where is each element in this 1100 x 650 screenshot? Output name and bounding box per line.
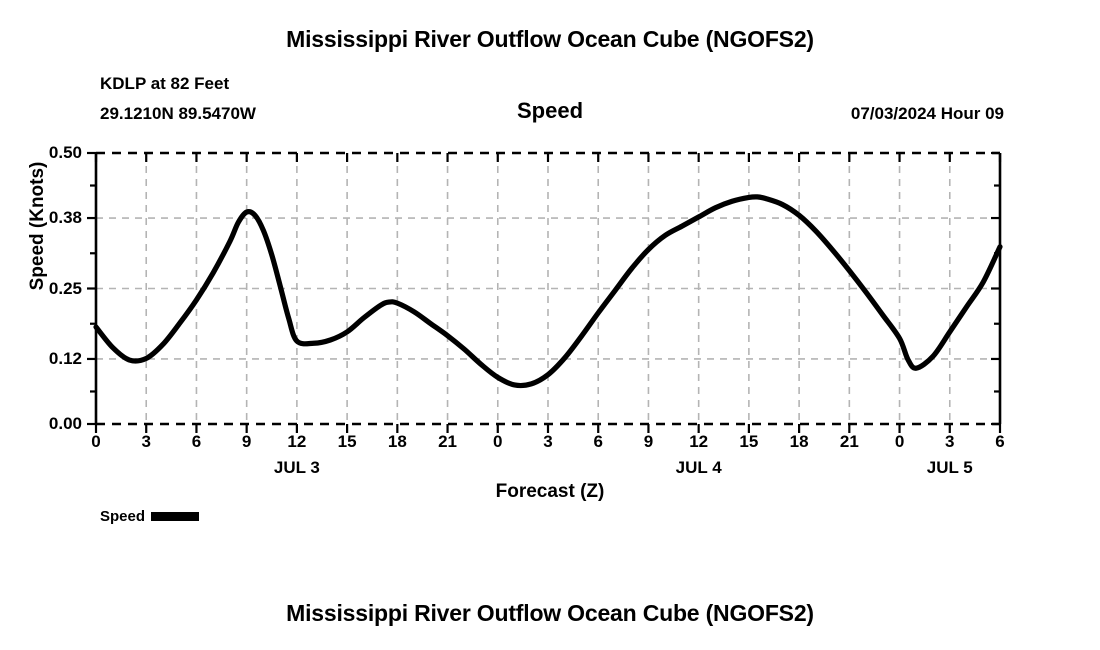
x-tick-label: 6: [578, 432, 618, 452]
y-tick-label: 0.50: [22, 144, 82, 161]
x-tick-label: 12: [277, 432, 317, 452]
x-axis-title: Forecast (Z): [0, 481, 1100, 503]
chart-page: Mississippi River Outflow Ocean Cube (NG…: [0, 0, 1100, 650]
x-axis-day-label: JUL 5: [890, 458, 1010, 478]
series-line-speed: [96, 197, 1000, 386]
x-tick-label: 0: [880, 432, 920, 452]
x-tick-label: 9: [628, 432, 668, 452]
plot-area: Speed (Knots) 0.000.120.250.380.50 03691…: [0, 0, 1100, 650]
x-tick-label: 15: [729, 432, 769, 452]
x-tick-label: 18: [377, 432, 417, 452]
x-axis-day-label: JUL 4: [639, 458, 759, 478]
x-tick-label: 18: [779, 432, 819, 452]
x-tick-label: 0: [76, 432, 116, 452]
y-tick-label: 0.12: [22, 350, 82, 367]
y-tick-label: 0.25: [22, 280, 82, 297]
x-tick-label: 9: [227, 432, 267, 452]
x-tick-label: 15: [327, 432, 367, 452]
chart-legend: Speed: [100, 508, 199, 525]
x-axis-day-label: JUL 3: [237, 458, 357, 478]
x-tick-label: 21: [428, 432, 468, 452]
x-tick-label: 21: [829, 432, 869, 452]
y-tick-label: 0.38: [22, 209, 82, 226]
x-tick-label: 3: [528, 432, 568, 452]
footer-title: Mississippi River Outflow Ocean Cube (NG…: [0, 600, 1100, 627]
x-tick-label: 6: [980, 432, 1020, 452]
x-tick-label: 12: [679, 432, 719, 452]
x-tick-label: 6: [176, 432, 216, 452]
x-tick-label: 3: [126, 432, 166, 452]
speed-time-series-chart: [0, 0, 1100, 650]
x-tick-label: 0: [478, 432, 518, 452]
y-tick-label: 0.00: [22, 415, 82, 432]
legend-label-speed: Speed: [100, 508, 145, 525]
x-tick-label: 3: [930, 432, 970, 452]
legend-swatch-speed: [151, 512, 199, 521]
